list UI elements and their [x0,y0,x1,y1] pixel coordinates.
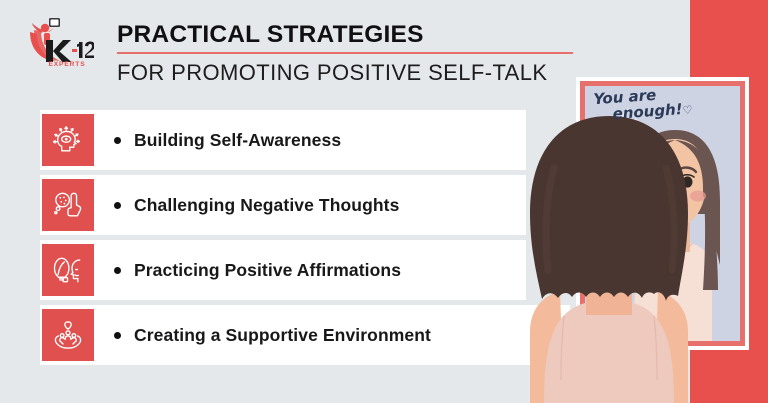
svg-text:EXPERTS: EXPERTS [48,61,85,68]
list-item-label: Practicing Positive Affirmations [134,260,401,281]
page-title: PRACTICAL STRATEGIES [117,22,577,48]
list-item[interactable]: Challenging Negative Thoughts [0,175,560,235]
hand-thought-bubble-icon [42,179,94,231]
head-eye-arrows-icon [42,114,94,166]
row-content: Creating a Supportive Environment [114,305,431,365]
bullet-icon [114,267,121,274]
bullet-icon [114,332,121,339]
bullet-icon [114,202,121,209]
list-item[interactable]: Practicing Positive Affirmations [0,240,560,300]
header-block: PRACTICAL STRATEGIES FOR PROMOTING POSIT… [117,22,577,85]
row-content: Practicing Positive Affirmations [114,240,401,300]
list-item[interactable]: Creating a Supportive Environment [0,305,560,365]
list-item-label: Challenging Negative Thoughts [134,195,399,216]
list-item-label: Building Self-Awareness [134,130,341,151]
row-content: Challenging Negative Thoughts [114,175,399,235]
woman-looking-in-mirror-illustration: You are enough!♡ [520,0,768,403]
page-subtitle: FOR PROMOTING POSITIVE SELF-TALK [117,61,577,85]
hands-heart-people-icon [42,309,94,361]
strategy-list: Building Self-Awareness [0,110,560,370]
title-divider [117,52,573,54]
infographic-canvas: EXPERTS PRACTICAL STRATEGIES FOR PROMOTI… [0,0,768,403]
list-item-label: Creating a Supportive Environment [134,325,431,346]
k12-experts-logo[interactable]: EXPERTS [22,16,94,68]
bullet-icon [114,137,121,144]
mirror-face-icon [42,244,94,296]
row-content: Building Self-Awareness [114,110,341,170]
list-item[interactable]: Building Self-Awareness [0,110,560,170]
